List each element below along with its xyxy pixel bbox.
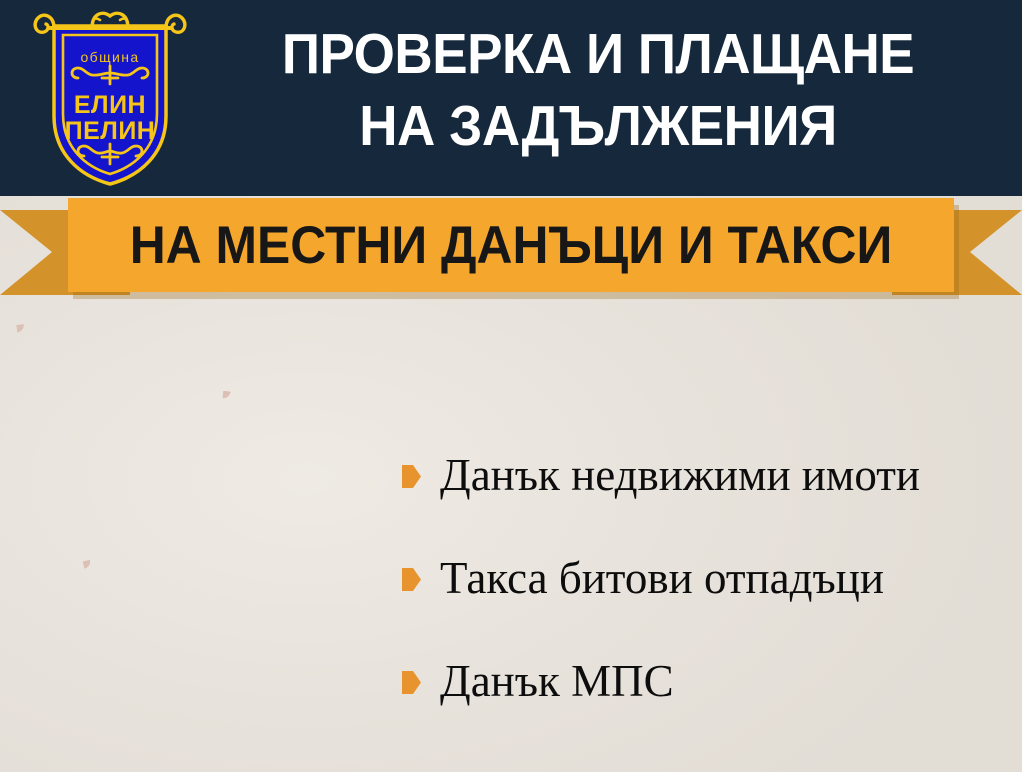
svg-text:ПЕЛИН: ПЕЛИН bbox=[65, 117, 156, 145]
house-icon bbox=[60, 350, 179, 462]
bullet-arrow-icon bbox=[402, 568, 421, 591]
coat-of-arms-icon: община ЕЛИН ПЕЛИН bbox=[30, 8, 190, 190]
ribbon-band: НА МЕСТНИ ДАНЪЦИ И ТАКСИ bbox=[68, 198, 954, 292]
stamp-paper bbox=[109, 549, 277, 717]
stamp-card-vehicle bbox=[83, 523, 304, 744]
list-item[interactable]: Такса битови отпадъци bbox=[402, 527, 1012, 630]
municipality-logo: община ЕЛИН ПЕЛИН bbox=[30, 8, 190, 190]
car-front-icon bbox=[129, 576, 258, 689]
tax-type-list: Данък недвижими имоти Такса битови отпад… bbox=[402, 424, 1012, 733]
poster-root: община ЕЛИН ПЕЛИН bbox=[0, 0, 1022, 772]
bullet-arrow-icon bbox=[402, 671, 421, 694]
header-bar: община ЕЛИН ПЕЛИН bbox=[0, 0, 1022, 196]
svg-text:община: община bbox=[80, 49, 139, 65]
bullet-arrow-icon bbox=[402, 465, 421, 488]
ribbon-banner: НА МЕСТНИ ДАНЪЦИ И ТАКСИ bbox=[0, 190, 1022, 310]
list-item-label: Данък МПС bbox=[440, 658, 674, 705]
list-item[interactable]: Данък МПС bbox=[402, 630, 1012, 733]
page-title: ПРОВЕРКА И ПЛАЩАНЕ НА ЗАДЪЛЖЕНИЯ bbox=[219, 18, 978, 162]
stamp-card-property bbox=[16, 302, 223, 509]
list-item-label: Такса битови отпадъци bbox=[440, 555, 884, 602]
list-item[interactable]: Данък недвижими имоти bbox=[402, 424, 1012, 527]
svg-text:ЕЛИН: ЕЛИН bbox=[74, 91, 146, 119]
stamp-paper bbox=[41, 327, 199, 485]
list-item-label: Данък недвижими имоти bbox=[440, 452, 920, 499]
trash-can-icon bbox=[254, 436, 358, 549]
ribbon-label: НА МЕСТНИ ДАНЪЦИ И ТАКСИ bbox=[95, 198, 928, 292]
